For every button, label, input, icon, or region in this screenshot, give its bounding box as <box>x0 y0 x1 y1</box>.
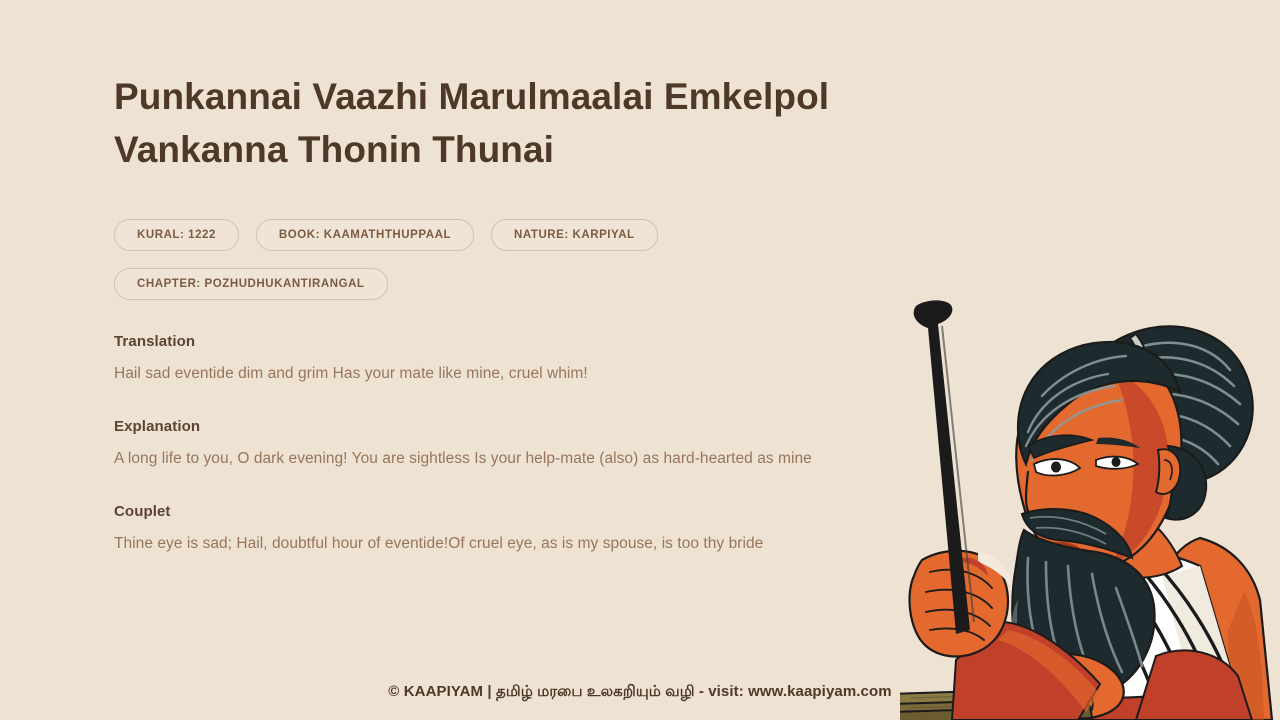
page-title: Punkannai Vaazhi Marulmaalai Emkelpol Va… <box>114 70 874 176</box>
badge-kural: KURAL: 1222 <box>114 219 239 251</box>
section-body-explanation: A long life to you, O dark evening! You … <box>114 448 934 470</box>
kural-card: Punkannai Vaazhi Marulmaalai Emkelpol Va… <box>0 0 1280 720</box>
section-heading-couplet: Couplet <box>114 503 934 520</box>
section-body-couplet: Thine eye is sad; Hail, doubtful hour of… <box>114 533 934 555</box>
badge-nature: NATURE: KARPIYAL <box>491 219 658 251</box>
badge-chapter: CHAPTER: POZHUDHUKANTIRANGAL <box>114 268 388 300</box>
thiruvalluvar-writing-illustration <box>900 300 1280 720</box>
section-couplet: Couplet Thine eye is sad; Hail, doubtful… <box>114 503 934 555</box>
section-body-translation: Hail sad eventide dim and grim Has your … <box>114 363 934 385</box>
section-translation: Translation Hail sad eventide dim and gr… <box>114 333 934 385</box>
badge-book: BOOK: KAAMATHTHUPPAAL <box>256 219 474 251</box>
section-heading-translation: Translation <box>114 333 934 350</box>
section-explanation: Explanation A long life to you, O dark e… <box>114 418 934 470</box>
footer-credit: © KAAPIYAM | தமிழ் மரபை உலகறியும் வழி - … <box>0 683 1280 702</box>
metadata-badge-row: KURAL: 1222 BOOK: KAAMATHTHUPPAAL NATURE… <box>114 219 934 300</box>
content-column: Punkannai Vaazhi Marulmaalai Emkelpol Va… <box>114 70 934 555</box>
section-heading-explanation: Explanation <box>114 418 934 435</box>
